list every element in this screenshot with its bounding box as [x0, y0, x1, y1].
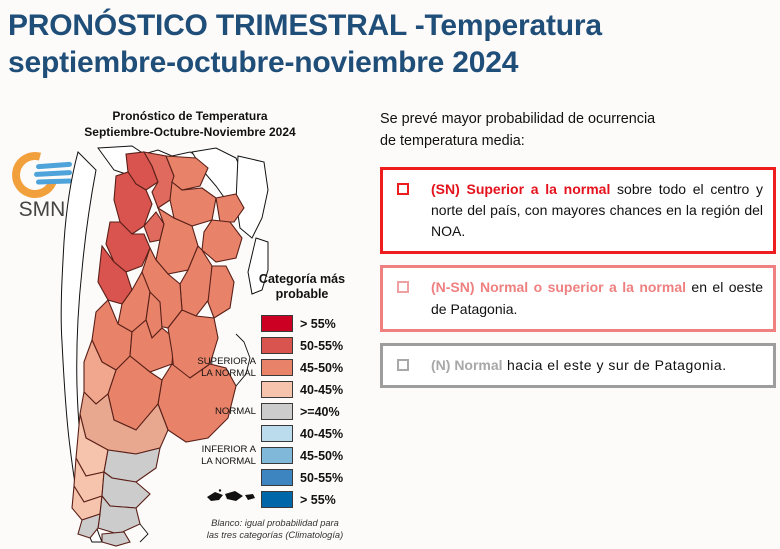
legend-swatch — [261, 447, 293, 464]
legend-label: >=40% — [293, 405, 340, 419]
brazil-outline — [236, 156, 268, 238]
legend-label: 50-55% — [293, 339, 343, 353]
legend-label: > 55% — [293, 493, 336, 507]
province-corrientes — [202, 220, 242, 262]
map-heading-line-1: Pronóstico de Temperatura — [40, 108, 340, 124]
intro-text: Se prevé mayor probabilidad de ocurrenci… — [380, 108, 776, 153]
legend-swatch — [261, 381, 293, 398]
legend-label: 45-50% — [293, 449, 343, 463]
legend-group-below-line-1: INFERIOR A — [185, 444, 256, 455]
title-line-1: PRONÓSTICO TRIMESTRAL -Temperatura — [8, 8, 772, 45]
bullet-box-normal-o-superior: (N-SN) Normal o superior a la normal en … — [380, 265, 776, 332]
legend-row: 50-55% — [185, 335, 365, 357]
bullet-box-superior-a-la-normal: (SN) Superior a la normal sobre todo el … — [380, 167, 776, 255]
legend-group-label-above: SUPERIOR A LA NORMAL — [185, 356, 261, 378]
bullet-text: (SN) Superior a la normal sobre todo el … — [431, 179, 763, 243]
bullet-text: (N) Normal hacia el este y sur de Patago… — [431, 355, 763, 376]
patagonia-east-chubut-north — [104, 448, 160, 482]
legend-row: SUPERIOR A LA NORMAL 45-50% — [185, 357, 365, 379]
legend-label: 40-45% — [293, 383, 343, 397]
legend-row: NORMAL >=40% — [185, 401, 365, 423]
legend-title-line-1: Categoría más — [243, 272, 361, 287]
legend-label: 50-55% — [293, 471, 343, 485]
legend-row: 50-55% — [185, 467, 365, 489]
legend-group-normal-line-1: NORMAL — [185, 406, 256, 417]
bullet-tag: (SN) Superior a la normal — [431, 181, 610, 197]
intro-line-1: Se prevé mayor probabilidad de ocurrenci… — [380, 108, 776, 130]
legend-row: 40-45% — [185, 423, 365, 445]
legend-swatch — [261, 315, 293, 332]
bullet-text: (N-SN) Normal o superior a la normal en … — [431, 277, 763, 320]
legend-title-line-2: probable — [243, 287, 361, 302]
province-tierra-del-fuego — [102, 532, 130, 546]
map-heading: Pronóstico de Temperatura Septiembre-Oct… — [40, 108, 340, 140]
bullet-box-normal: (N) Normal hacia el este y sur de Patago… — [380, 343, 776, 388]
intro-line-2: de temperatura media: — [380, 130, 776, 152]
legend-swatch — [261, 403, 293, 420]
legend-note-line-2: las tres categorías (Climatología) — [187, 529, 363, 542]
checkbox-icon[interactable] — [397, 281, 409, 293]
legend-rows: > 55% 50-55% SUPERIOR A LA NORMAL 45-50%… — [185, 313, 365, 511]
bullet-rest: hacia el este y sur de Patagonia. — [503, 357, 727, 373]
legend-label: 45-50% — [293, 361, 343, 375]
falkland-islands-inset-icon — [203, 489, 257, 505]
legend-swatch — [261, 337, 293, 354]
map-panel: Pronóstico de Temperatura Septiembre-Oct… — [0, 100, 365, 549]
legend-label: > 55% — [293, 317, 336, 331]
legend-group-label-below: INFERIOR A LA NORMAL — [185, 444, 261, 466]
legend-title: Categoría más probable — [243, 272, 361, 303]
legend-group-above-line-2: LA NORMAL — [185, 368, 256, 379]
map-legend: Categoría más probable > 55% 50-55% SUPE… — [185, 272, 365, 542]
page-title: PRONÓSTICO TRIMESTRAL -Temperatura septi… — [8, 8, 772, 81]
bullet-tag: (N) Normal — [431, 357, 503, 373]
legend-note-line-1: Blanco: igual probabilidad para — [187, 517, 363, 530]
map-heading-line-2: Septiembre-Octubre-Noviembre 2024 — [40, 124, 340, 140]
legend-note: Blanco: igual probabilidad para las tres… — [187, 517, 363, 542]
legend-row: INFERIOR A LA NORMAL 45-50% — [185, 445, 365, 467]
forecast-summary-panel: Se prevé mayor probabilidad de ocurrenci… — [380, 108, 776, 399]
legend-swatch — [261, 359, 293, 376]
title-line-2: septiembre-octubre-noviembre 2024 — [8, 45, 772, 82]
legend-group-below-line-2: LA NORMAL — [185, 456, 256, 467]
legend-swatch — [261, 425, 293, 442]
legend-swatch — [261, 469, 293, 486]
legend-label: 40-45% — [293, 427, 343, 441]
legend-group-above-line-1: SUPERIOR A — [185, 356, 256, 367]
legend-row: > 55% — [185, 313, 365, 335]
legend-group-label-normal: NORMAL — [185, 406, 261, 417]
checkbox-icon[interactable] — [397, 359, 409, 371]
legend-row: 40-45% — [185, 379, 365, 401]
bullet-tag: (N-SN) Normal o superior a la normal — [431, 279, 686, 295]
checkbox-icon[interactable] — [397, 183, 409, 195]
legend-swatch — [261, 491, 293, 508]
